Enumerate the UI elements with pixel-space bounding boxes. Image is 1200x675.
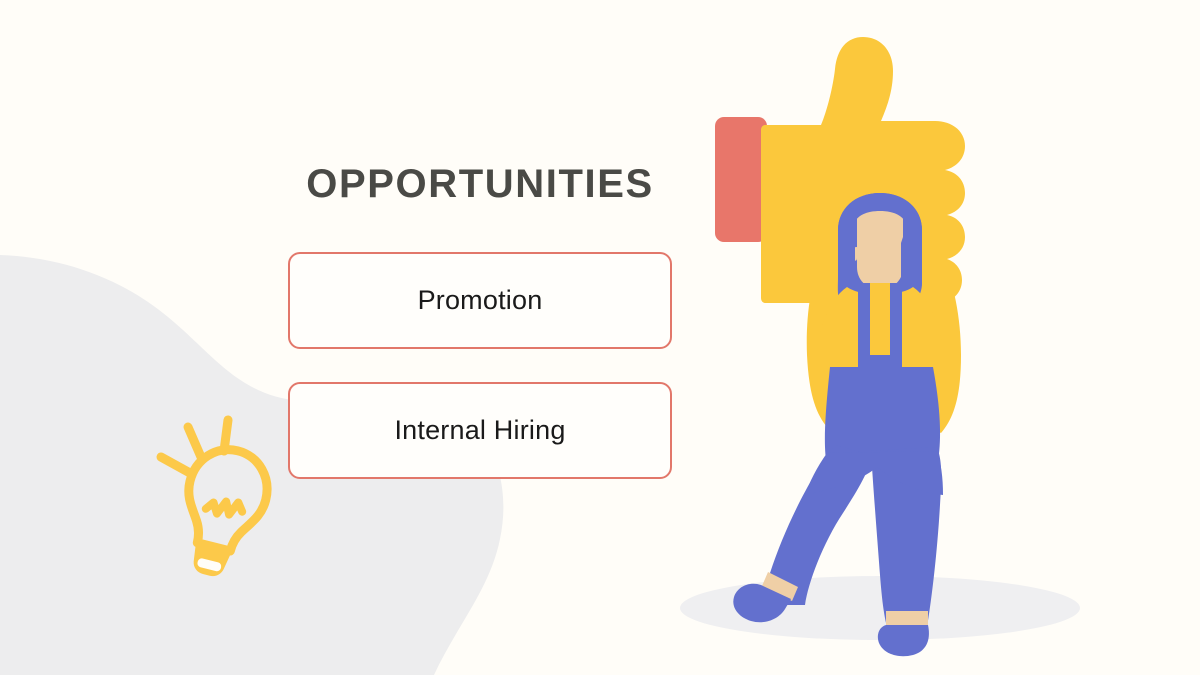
slide-canvas: OPPORTUNITIES Promotion Internal Hiring	[0, 0, 1200, 675]
thumb-cuff	[715, 117, 767, 242]
text-column: OPPORTUNITIES	[288, 164, 672, 204]
option-box-internal-hiring[interactable]: Internal Hiring	[288, 382, 672, 479]
lightbulb-icon	[148, 415, 298, 595]
thumbs-up-person-illustration	[665, 15, 1095, 660]
option-label: Internal Hiring	[394, 415, 565, 446]
front-ankle	[886, 611, 928, 627]
front-shoe	[878, 625, 929, 656]
page-title: OPPORTUNITIES	[288, 164, 672, 204]
option-label: Promotion	[418, 285, 543, 316]
option-box-promotion[interactable]: Promotion	[288, 252, 672, 349]
